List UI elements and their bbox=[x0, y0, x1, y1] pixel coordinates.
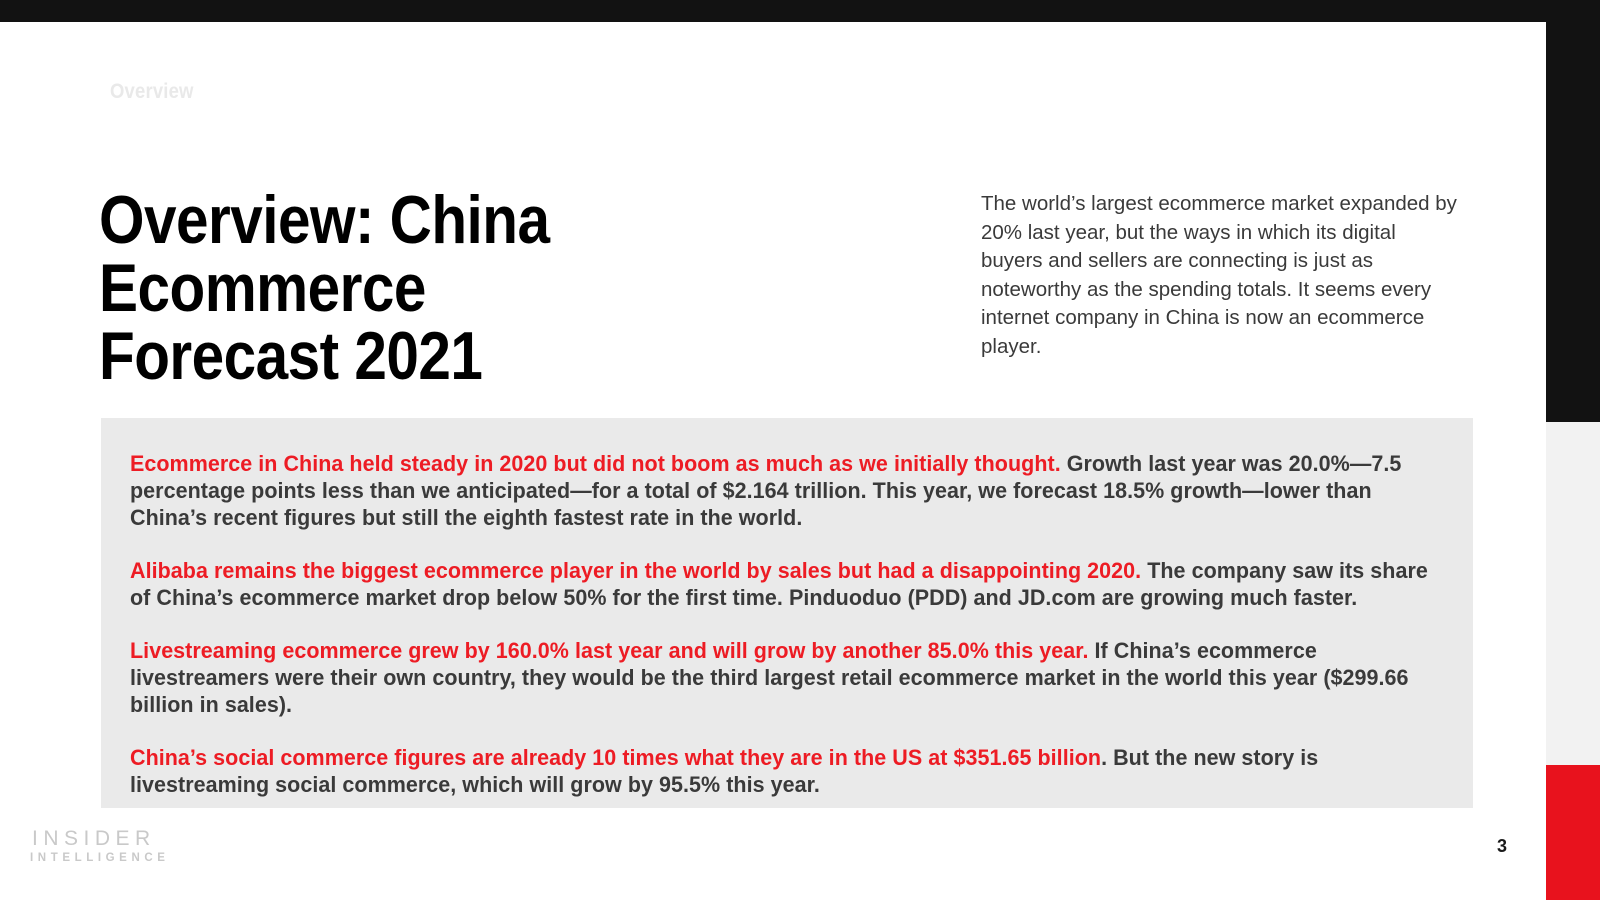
top-accent-bar bbox=[0, 0, 1546, 22]
takeaway-paragraph: Alibaba remains the biggest ecommerce pl… bbox=[130, 557, 1445, 611]
takeaway-paragraph: China’s social commerce figures are alre… bbox=[130, 744, 1445, 798]
page-number: 3 bbox=[1497, 836, 1507, 857]
takeaway-paragraph: Ecommerce in China held steady in 2020 b… bbox=[130, 450, 1445, 531]
right-edge-rail bbox=[1546, 0, 1600, 900]
logo-primary-text: INSIDER bbox=[30, 827, 170, 851]
insider-intelligence-logo: INSIDER INTELLIGENCE bbox=[30, 827, 170, 865]
takeaway-paragraph: Livestreaming ecommerce grew by 160.0% l… bbox=[130, 637, 1445, 718]
takeaway-lede: Ecommerce in China held steady in 2020 b… bbox=[130, 451, 1061, 476]
page-title: Overview: China Ecommerce Forecast 2021 bbox=[99, 186, 813, 390]
takeaway-lede: Alibaba remains the biggest ecommerce pl… bbox=[130, 558, 1141, 583]
rail-segment-dark bbox=[1546, 0, 1600, 422]
slide-canvas: Overview Overview: China Ecommerce Forec… bbox=[0, 0, 1600, 900]
takeaway-lede: China’s social commerce figures are alre… bbox=[130, 745, 1101, 770]
key-takeaways-panel: Ecommerce in China held steady in 2020 b… bbox=[101, 418, 1473, 808]
logo-secondary-text: INTELLIGENCE bbox=[30, 851, 170, 865]
takeaway-lede: Livestreaming ecommerce grew by 160.0% l… bbox=[130, 638, 1089, 663]
rail-segment-red bbox=[1546, 765, 1600, 900]
section-eyebrow: Overview bbox=[110, 80, 194, 104]
standfirst-summary: The world’s largest ecommerce market exp… bbox=[981, 190, 1459, 362]
rail-segment-gray bbox=[1546, 422, 1600, 765]
